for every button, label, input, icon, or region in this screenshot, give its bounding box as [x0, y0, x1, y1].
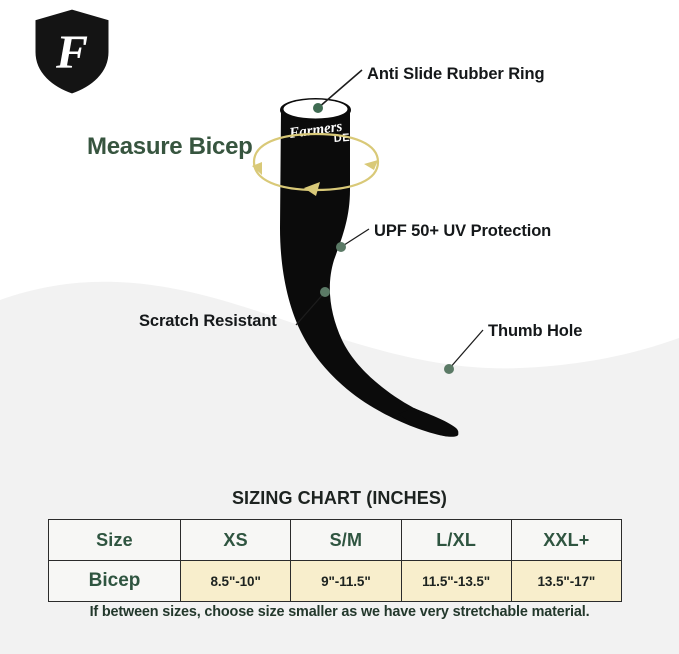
callout-label-upf-uv-protection: UPF 50+ UV Protection	[374, 222, 551, 241]
table-header-size: Size	[49, 520, 181, 561]
table-cell-bicep-xxl: 13.5"-17"	[511, 561, 621, 602]
table-cell-bicep-xs: 8.5"-10"	[181, 561, 291, 602]
sizing-chart-table: Size XS S/M L/XL XXL+ Bicep 8.5"-10" 9"-…	[48, 519, 622, 602]
table-row-label-bicep: Bicep	[49, 561, 181, 602]
table-row: Bicep 8.5"-10" 9"-11.5" 11.5"-13.5" 13.5…	[49, 561, 622, 602]
callout-label-thumb-hole: Thumb Hole	[488, 322, 582, 341]
dot-anti-slide-rubber-ring	[313, 103, 323, 113]
table-header-lxl: L/XL	[401, 520, 511, 561]
sizing-infographic: F Farmers DEFENSE	[0, 0, 679, 654]
callout-label-anti-slide-rubber-ring: Anti Slide Rubber Ring	[367, 65, 544, 84]
dot-scratch-resistant	[320, 287, 330, 297]
callout-label-scratch-resistant: Scratch Resistant	[139, 312, 277, 331]
table-header-xs: XS	[181, 520, 291, 561]
table-cell-bicep-lxl: 11.5"-13.5"	[401, 561, 511, 602]
shield-f-logo-icon: F	[28, 6, 116, 98]
sizing-chart-title: SIZING CHART (INCHES)	[0, 488, 679, 509]
dot-thumb-hole	[444, 364, 454, 374]
measure-bicep-label: Measure Bicep	[87, 133, 253, 161]
table-cell-bicep-sm: 9"-11.5"	[291, 561, 401, 602]
dot-upf-uv-protection	[336, 242, 346, 252]
table-header-xxl: XXL+	[511, 520, 621, 561]
table-header-sm: S/M	[291, 520, 401, 561]
sizing-chart-note: If between sizes, choose size smaller as…	[0, 604, 679, 620]
table-header-row: Size XS S/M L/XL XXL+	[49, 520, 622, 561]
logo-letter: F	[55, 26, 88, 79]
